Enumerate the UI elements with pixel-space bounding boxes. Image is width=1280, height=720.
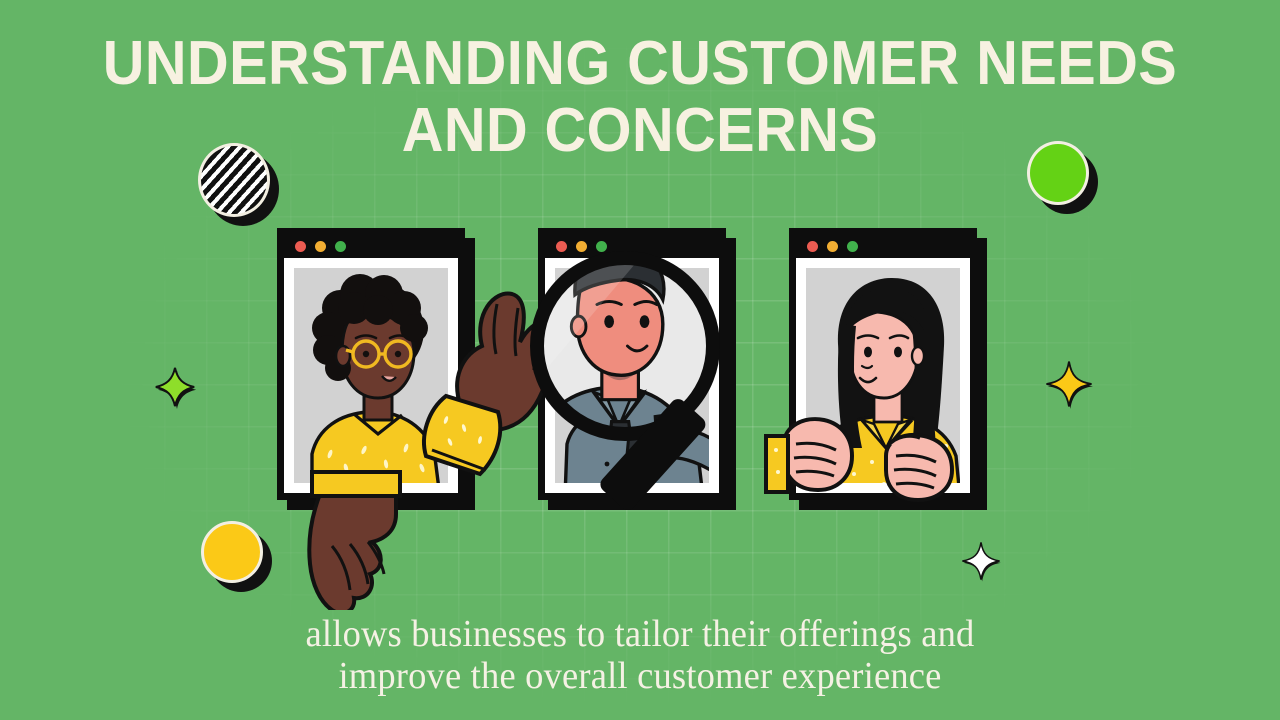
browser-window-left[interactable]: [277, 228, 465, 500]
window-body: [277, 228, 465, 500]
yellow-circle-face: [201, 521, 263, 583]
maximize-dot-icon[interactable]: [596, 241, 607, 252]
title-line-2: AND CONCERNS: [45, 101, 1235, 162]
maximize-dot-icon[interactable]: [847, 241, 858, 252]
window-titlebar: [545, 235, 719, 258]
browser-window-center[interactable]: [538, 228, 726, 500]
subtitle-line-2: improve the overall customer experience: [26, 655, 1255, 698]
sparkle-green-icon: [155, 366, 195, 408]
minimize-dot-icon[interactable]: [315, 241, 326, 252]
close-dot-icon[interactable]: [556, 241, 567, 252]
subtitle-line-1: allows businesses to tailor their offeri…: [26, 613, 1255, 656]
page-title: UNDERSTANDING CUSTOMER NEEDS AND CONCERN…: [0, 34, 1280, 162]
window-body: [789, 228, 977, 500]
window-titlebar: [284, 235, 458, 258]
sparkle-yellow-icon: [1046, 360, 1092, 408]
close-dot-icon[interactable]: [295, 241, 306, 252]
page-subtitle: allows businesses to tailor their offeri…: [0, 613, 1280, 698]
browser-window-right[interactable]: [789, 228, 977, 500]
window-screen-center: [555, 268, 709, 483]
yellow-circle-decoration: [201, 521, 263, 583]
minimize-dot-icon[interactable]: [576, 241, 587, 252]
window-titlebar: [796, 235, 970, 258]
close-dot-icon[interactable]: [807, 241, 818, 252]
window-body: [538, 228, 726, 500]
maximize-dot-icon[interactable]: [335, 241, 346, 252]
window-screen-left: [294, 268, 448, 483]
sparkle-white-icon: [962, 541, 1000, 581]
title-line-1: UNDERSTANDING CUSTOMER NEEDS: [45, 34, 1235, 95]
minimize-dot-icon[interactable]: [827, 241, 838, 252]
window-screen-right: [806, 268, 960, 483]
